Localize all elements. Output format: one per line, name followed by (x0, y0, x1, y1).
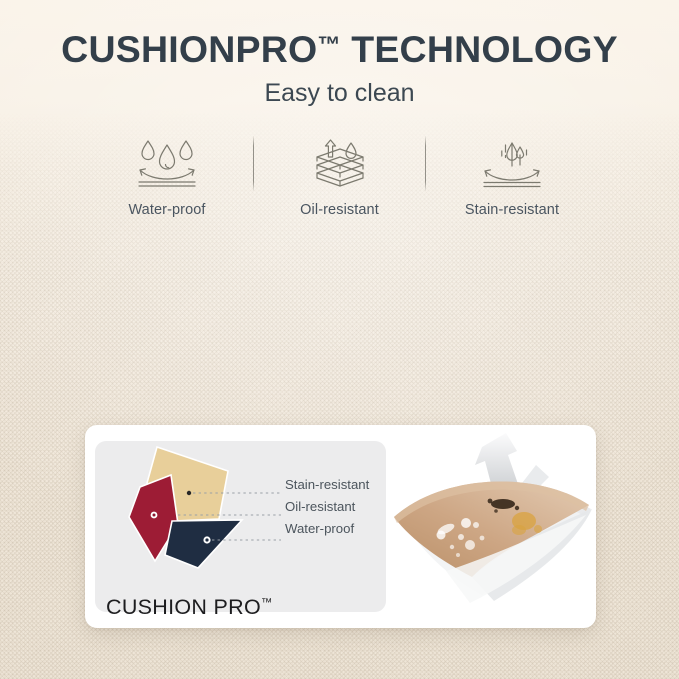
page-subtitle: Easy to clean (0, 78, 679, 108)
layered-sheets-droplet-icon (309, 134, 371, 192)
feature-water-proof: Water-proof (92, 134, 242, 218)
placemat-photo (386, 425, 596, 628)
page-title: CUSHIONPRO™ TECHNOLOGY (0, 28, 679, 70)
feature-stain-resistant: Stain-resistant (437, 134, 587, 218)
water-droplets-repel-icon (134, 134, 200, 192)
page-title-text: CUSHIONPRO (61, 28, 317, 70)
header: CUSHIONPRO™ TECHNOLOGY Easy to clean (0, 28, 679, 108)
feature-label: Stain-resistant (465, 202, 559, 218)
feature-label: Water-proof (128, 202, 205, 218)
callout-water-proof: Water-proof (285, 521, 354, 536)
product-detail-card: Stain-resistant Oil-resistant Water-proo… (85, 425, 596, 628)
feature-divider-1 (253, 136, 254, 191)
brand-wordmark: CUSHION PRO™ (106, 595, 272, 620)
callout-oil-resistant: Oil-resistant (285, 499, 355, 514)
callout-stain-resistant: Stain-resistant (285, 477, 369, 492)
trademark-symbol: ™ (317, 31, 340, 57)
feature-label: Oil-resistant (300, 202, 379, 218)
feature-list: Water-proof Oil-resistant (92, 134, 587, 218)
feature-divider-2 (425, 136, 426, 191)
layer-shape-water (165, 520, 242, 568)
feature-oil-resistant: Oil-resistant (265, 134, 415, 218)
product-infographic: CUSHIONPRO™ TECHNOLOGY Easy to clean Wat… (0, 0, 679, 679)
splash-repel-icon (479, 134, 545, 192)
brand-name: CUSHION PRO (106, 595, 261, 619)
brand-trademark-symbol: ™ (261, 597, 272, 609)
